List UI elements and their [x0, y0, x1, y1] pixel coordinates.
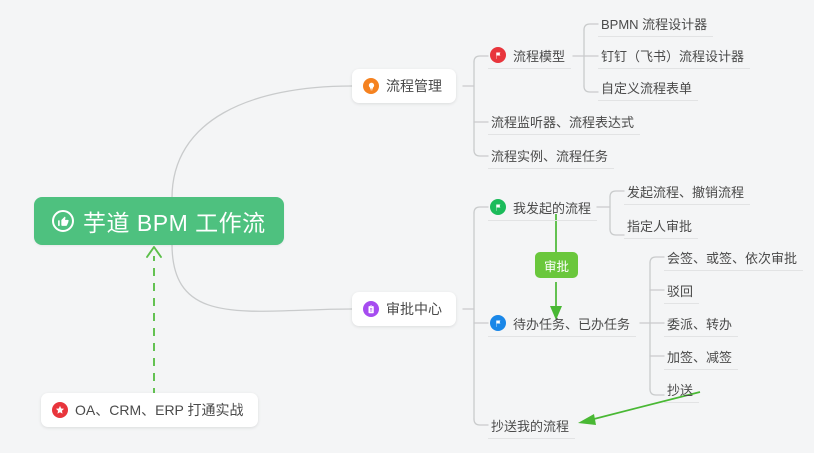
link-pmodel-corner-bot — [584, 86, 598, 92]
node-label: 抄送 — [667, 380, 693, 399]
branch-node-process-management[interactable]: 流程管理 — [352, 69, 456, 103]
link-pm-corner-bot — [474, 150, 488, 156]
link-mine-corner-top — [610, 191, 624, 197]
link-root-to-approval-center — [172, 244, 352, 311]
branch-node-approval-center[interactable]: 审批中心 — [352, 292, 456, 326]
branch-label: 流程管理 — [386, 76, 442, 96]
node-label: 发起流程、撤销流程 — [627, 182, 744, 201]
node-label: 指定人审批 — [627, 216, 692, 235]
node-my-initiated-processes[interactable]: 我发起的流程 — [488, 194, 597, 221]
node-bpmn-designer[interactable]: BPMN 流程设计器 — [598, 10, 713, 37]
node-label: 加签、减签 — [667, 347, 732, 366]
link-todo-corner-bot — [650, 389, 664, 395]
link-ac-corner-bot — [474, 419, 488, 425]
mindmap-canvas: 芋道 BPM 工作流 流程管理 流程模型 BPMN 流程设计器 钉钉（飞书）流程… — [0, 0, 814, 453]
link-ac-corner-top — [474, 207, 488, 213]
node-label: 流程实例、流程任务 — [491, 146, 608, 165]
node-custom-process-form[interactable]: 自定义流程表单 — [598, 74, 698, 101]
node-label: BPMN 流程设计器 — [601, 14, 707, 33]
tag-label: 审批 — [544, 256, 569, 275]
node-label: 会签、或签、依次审批 — [667, 248, 797, 267]
node-label: 流程监听器、流程表达式 — [491, 112, 634, 131]
link-todo-corner-top — [650, 257, 664, 263]
node-dingtalk-feishu-designer[interactable]: 钉钉（飞书）流程设计器 — [598, 42, 750, 69]
star-icon — [52, 402, 68, 418]
flag-icon — [490, 47, 506, 63]
root-node[interactable]: 芋道 BPM 工作流 — [34, 197, 284, 245]
node-todo-done-tasks[interactable]: 待办任务、已办任务 — [488, 310, 636, 337]
node-reject[interactable]: 驳回 — [664, 277, 699, 304]
link-pmodel-corner-top — [584, 24, 598, 30]
flag-icon — [490, 315, 506, 331]
node-cc[interactable]: 抄送 — [664, 376, 699, 403]
tag-approval[interactable]: 审批 — [535, 252, 578, 278]
floating-node-integration[interactable]: OA、CRM、ERP 打通实战 — [41, 393, 258, 427]
integration-dashed-arrow — [147, 247, 161, 396]
node-delegate-transfer[interactable]: 委派、转办 — [664, 310, 738, 337]
thumbs-up-icon — [52, 210, 74, 232]
node-process-listener-expression[interactable]: 流程监听器、流程表达式 — [488, 108, 640, 135]
floating-label: OA、CRM、ERP 打通实战 — [75, 400, 244, 420]
node-process-model[interactable]: 流程模型 — [488, 42, 571, 69]
link-root-to-process-management — [172, 86, 352, 198]
link-pm-corner-top — [474, 56, 488, 62]
node-label: 抄送我的流程 — [491, 416, 569, 435]
node-label: 待办任务、已办任务 — [513, 314, 630, 333]
lightbulb-icon — [363, 78, 379, 94]
node-label: 委派、转办 — [667, 314, 732, 333]
flag-icon — [490, 199, 506, 215]
node-process-instance-task[interactable]: 流程实例、流程任务 — [488, 142, 614, 169]
branch-label: 审批中心 — [386, 299, 442, 319]
node-start-cancel-process[interactable]: 发起流程、撤销流程 — [624, 178, 750, 205]
link-mine-corner-bot — [610, 229, 624, 235]
node-label: 驳回 — [667, 281, 693, 300]
clipboard-icon — [363, 301, 379, 317]
root-label: 芋道 BPM 工作流 — [83, 204, 266, 238]
node-label: 流程模型 — [513, 46, 565, 65]
node-add-remove-sign[interactable]: 加签、减签 — [664, 343, 738, 370]
node-countersign-orsign-sequential[interactable]: 会签、或签、依次审批 — [664, 244, 803, 271]
node-cc-to-me-processes[interactable]: 抄送我的流程 — [488, 412, 575, 439]
node-label: 我发起的流程 — [513, 198, 591, 217]
node-assignee-approval[interactable]: 指定人审批 — [624, 212, 698, 239]
node-label: 自定义流程表单 — [601, 78, 692, 97]
node-label: 钉钉（飞书）流程设计器 — [601, 46, 744, 65]
